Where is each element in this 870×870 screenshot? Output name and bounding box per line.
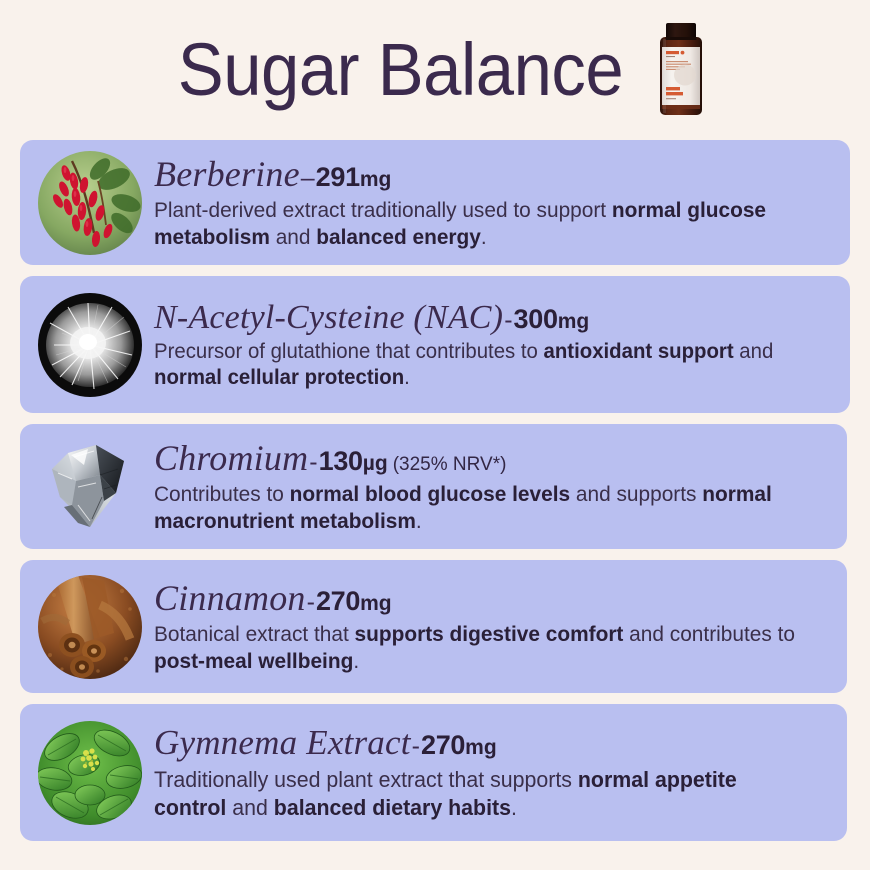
ingredient-separator: – [300, 164, 316, 192]
ingredient-card-chromium[interactable]: Chromium-130µg(325% NRV*) Contributes to… [20, 424, 847, 549]
ingredient-card-cinnamon[interactable]: Cinnamon-270mg Botanical extract that su… [20, 560, 847, 693]
ingredient-name: Cinnamon [154, 578, 306, 618]
berberine-berries-photo [38, 151, 142, 255]
infographic-page: Sugar Balance [0, 0, 870, 870]
ingredient-dose: 300 [514, 304, 558, 334]
page-title: Sugar Balance [177, 33, 622, 107]
ingredient-thumbnail [34, 293, 146, 397]
ingredient-description: Precursor of glutathione that contribute… [154, 339, 814, 392]
chromium-metal-crystal-photo [38, 435, 142, 539]
ingredient-description: Plant-derived extract traditionally used… [154, 197, 814, 251]
product-bottle-image [653, 23, 709, 119]
ingredient-dose: 270 [316, 586, 360, 616]
ingredient-description: Botanical extract that supports digestiv… [154, 621, 811, 675]
ingredient-heading: Gymnema Extract-270mg [154, 723, 831, 764]
ingredient-heading: N-Acetyl-Cysteine (NAC)-300mg [154, 298, 834, 337]
ingredient-thumbnail [34, 435, 146, 539]
ingredient-card-gymnema[interactable]: Gymnema Extract-270mg Traditionally used… [20, 704, 847, 841]
ingredient-description: Traditionally used plant extract that su… [154, 766, 811, 821]
ingredient-dose: 291 [316, 162, 360, 192]
ingredient-heading: Berberine–291mg [154, 154, 834, 196]
ingredient-text: Berberine–291mg Plant-derived extract tr… [146, 154, 834, 252]
page-header: Sugar Balance [0, 0, 870, 140]
supplement-bottle-icon [659, 23, 703, 115]
ingredient-text: Chromium-130µg(325% NRV*) Contributes to… [146, 438, 831, 536]
ingredient-name: Berberine [154, 154, 300, 194]
ingredient-text: N-Acetyl-Cysteine (NAC)-300mg Precursor … [146, 298, 834, 392]
ingredient-separator: - [503, 306, 513, 334]
ingredient-unit: mg [558, 310, 590, 333]
ingredient-description: Contributes to normal blood glucose leve… [154, 481, 811, 535]
ingredient-separator: - [308, 448, 318, 476]
ingredient-name: Gymnema Extract [154, 723, 411, 762]
ingredient-heading: Chromium-130µg(325% NRV*) [154, 438, 831, 480]
ingredient-unit: mg [360, 168, 392, 191]
ingredient-unit: µg [363, 452, 388, 475]
ingredient-thumbnail [34, 151, 146, 255]
ingredient-unit: mg [360, 592, 392, 615]
ingredient-separator: - [306, 588, 316, 616]
ingredient-dose: 270 [421, 730, 465, 760]
ingredient-nrv: (325% NRV*) [388, 454, 507, 475]
ingredient-thumbnail [34, 575, 146, 679]
ingredient-dose: 130 [319, 446, 363, 476]
ingredient-unit: mg [465, 736, 497, 759]
gymnema-leaves-photo [38, 721, 142, 825]
nac-crystal-photo [38, 293, 142, 397]
ingredient-card-list: Berberine–291mg Plant-derived extract tr… [0, 140, 870, 841]
ingredient-card-nac[interactable]: N-Acetyl-Cysteine (NAC)-300mg Precursor … [20, 276, 850, 413]
ingredient-text: Cinnamon-270mg Botanical extract that su… [146, 578, 831, 676]
ingredient-name: Chromium [154, 438, 308, 478]
ingredient-heading: Cinnamon-270mg [154, 578, 831, 620]
ingredient-separator: - [411, 732, 421, 760]
ingredient-name: N-Acetyl-Cysteine (NAC) [154, 299, 503, 336]
cinnamon-sticks-photo [38, 575, 142, 679]
ingredient-card-berberine[interactable]: Berberine–291mg Plant-derived extract tr… [20, 140, 850, 265]
ingredient-text: Gymnema Extract-270mg Traditionally used… [146, 723, 831, 821]
ingredient-thumbnail [34, 721, 146, 825]
